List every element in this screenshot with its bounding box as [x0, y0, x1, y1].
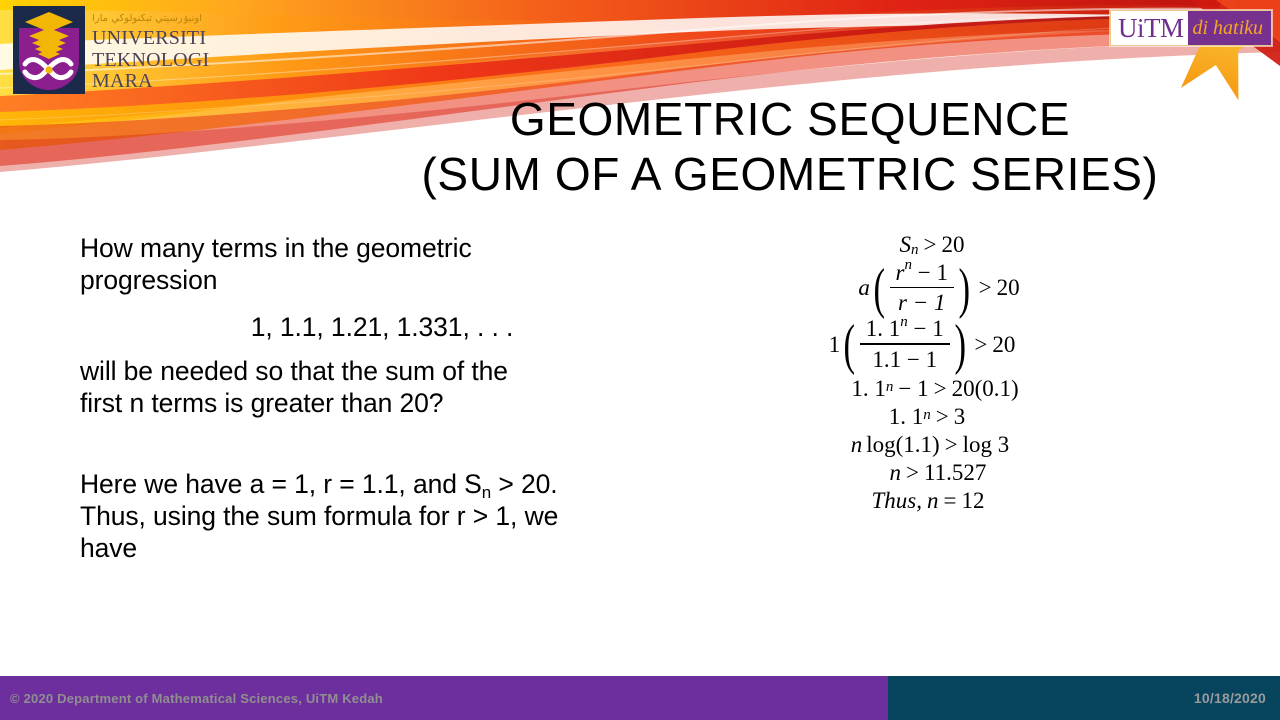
- eq3-num-rest: − 1: [914, 316, 944, 341]
- math-derivation-column: Sn > 20 a ( rn − 1 r − 1 ) > 20 1 ( 1. 1…: [780, 232, 1100, 514]
- eq1-lhs-subscript: n: [911, 242, 919, 259]
- eq5-relation: >: [931, 404, 954, 430]
- equation-2: a ( rn − 1 r − 1 ) > 20: [780, 260, 1100, 316]
- eq6-variable: n: [851, 432, 863, 458]
- equation-8-conclusion: Thus, n = 12: [780, 488, 1100, 514]
- eq3-open-paren: (: [844, 330, 856, 361]
- footer-copyright-text: © 2020 Department of Mathematical Scienc…: [10, 691, 383, 706]
- slide-canvas: اونيۏرسيتي تيكنولوڬي مارا Universiti Tek…: [0, 0, 1280, 720]
- question-paragraph-2: will be needed so that the sum of the fi…: [80, 355, 660, 420]
- eq3-close-paren: ): [954, 330, 966, 361]
- university-wordmark: اونيۏرسيتي تيكنولوڬي مارا Universiti Tek…: [92, 14, 242, 93]
- eq2-close-paren: ): [959, 274, 971, 305]
- wordmark-line-1: Universiti: [92, 28, 242, 50]
- eq4-base: 1. 1: [851, 376, 886, 402]
- eq2-denominator: r − 1: [892, 288, 951, 316]
- equation-3: 1 ( 1. 1n − 1 1.1 − 1 ) > 20: [780, 316, 1100, 372]
- uitm-di-hatiku-logo: UiTM di hatiku: [1110, 10, 1272, 46]
- equation-1: Sn > 20: [780, 232, 1100, 258]
- eq4-rest: − 1: [893, 376, 928, 402]
- equation-5: 1. 1n > 3: [780, 404, 1100, 430]
- eq6-relation: >: [940, 432, 963, 458]
- eq3-num-exponent: n: [900, 314, 908, 330]
- eq3-numerator: 1. 1n − 1: [860, 316, 950, 343]
- question-line-1: How many terms in the geometric: [80, 233, 472, 263]
- wordmark-line-3: Mara: [92, 71, 242, 93]
- uitm-crest-logo: [13, 6, 85, 94]
- question-paragraph: How many terms in the geometric progress…: [80, 232, 660, 297]
- eq3-rhs: 20: [992, 332, 1015, 358]
- eq2-numerator: rn − 1: [890, 260, 954, 287]
- eq3-denominator: 1.1 − 1: [866, 345, 943, 373]
- eq2-relation: >: [974, 275, 997, 301]
- eq5-rhs: 3: [954, 404, 966, 430]
- footer-copyright-bar: © 2020 Department of Mathematical Scienc…: [0, 676, 888, 720]
- solution-line-1-pre: Here we have a = 1, r = 1.1, and S: [80, 469, 482, 499]
- question-line-3: will be needed so that the sum of the: [80, 356, 508, 386]
- equation-4: 1. 1n − 1 > 20(0.1): [780, 376, 1100, 402]
- eq4-relation: >: [929, 376, 952, 402]
- footer-date-bar: 10/18/2020: [888, 676, 1280, 720]
- eq2-fraction: rn − 1 r − 1: [890, 260, 954, 316]
- eq3-coefficient: 1: [829, 332, 841, 358]
- eq8-thus-word: Thus,: [872, 488, 923, 514]
- eq1-rhs: 20: [941, 232, 964, 258]
- eq1-relation: >: [919, 232, 942, 258]
- eq8-rhs: 12: [961, 488, 984, 514]
- question-line-2: progression: [80, 265, 217, 295]
- eq2-coefficient: a: [858, 275, 870, 301]
- solution-paragraph: Here we have a = 1, r = 1.1, and Sn > 20…: [80, 468, 660, 565]
- eq2-num-rest: − 1: [918, 260, 948, 285]
- eq3-relation: >: [969, 332, 992, 358]
- eq7-rhs: 11.527: [924, 460, 986, 486]
- eq6-rhs: log 3: [963, 432, 1010, 458]
- sequence-line: 1, 1.1, 1.21, 1.331, . . .: [80, 311, 660, 343]
- title-line-1: GEOMETRIC SEQUENCE: [340, 92, 1240, 147]
- eq8-relation: =: [939, 488, 962, 514]
- question-line-4: first n terms is greater than 20?: [80, 388, 443, 418]
- eq8-variable: n: [922, 488, 939, 514]
- eq7-variable: n: [890, 460, 902, 486]
- logo-hatiku-box: di hatiku: [1188, 11, 1271, 45]
- eq2-rhs: 20: [997, 275, 1020, 301]
- equation-7: n > 11.527: [780, 460, 1100, 486]
- eq2-open-paren: (: [873, 274, 885, 305]
- eq1-lhs-variable: S: [900, 232, 912, 258]
- eq3-fraction: 1. 1n − 1 1.1 − 1: [860, 316, 950, 372]
- wordmark-jawi-script: اونيۏرسيتي تيكنولوڬي مارا: [92, 14, 242, 28]
- equation-6: n log(1.1) > log 3: [780, 432, 1100, 458]
- slide-footer: © 2020 Department of Mathematical Scienc…: [0, 676, 1280, 720]
- eq2-num-exponent: n: [904, 257, 912, 273]
- eq6-function: log(1.1): [862, 432, 939, 458]
- slide-title: GEOMETRIC SEQUENCE (SUM OF A GEOMETRIC S…: [340, 92, 1240, 201]
- footer-date-text: 10/18/2020: [1194, 690, 1266, 706]
- solution-subscript-n: n: [482, 483, 491, 502]
- body-text-column: How many terms in the geometric progress…: [80, 232, 660, 565]
- solution-line-2: Thus, using the sum formula for r > 1, w…: [80, 501, 558, 531]
- wordmark-line-2: Teknologi: [92, 50, 242, 72]
- solution-line-1-post: > 20.: [491, 469, 557, 499]
- solution-line-3: have: [80, 533, 137, 563]
- logo-hatiku-text: di hatiku: [1192, 18, 1263, 38]
- title-line-2: (SUM OF A GEOMETRIC SERIES): [340, 147, 1240, 202]
- logo-uitm-text: UiTM: [1118, 15, 1184, 42]
- eq4-rhs: 20(0.1): [952, 376, 1019, 402]
- eq5-base: 1. 1: [889, 404, 924, 430]
- eq7-relation: >: [901, 460, 924, 486]
- eq3-num-base: 1. 1: [866, 316, 901, 341]
- logo-uitm-box: UiTM: [1111, 11, 1189, 45]
